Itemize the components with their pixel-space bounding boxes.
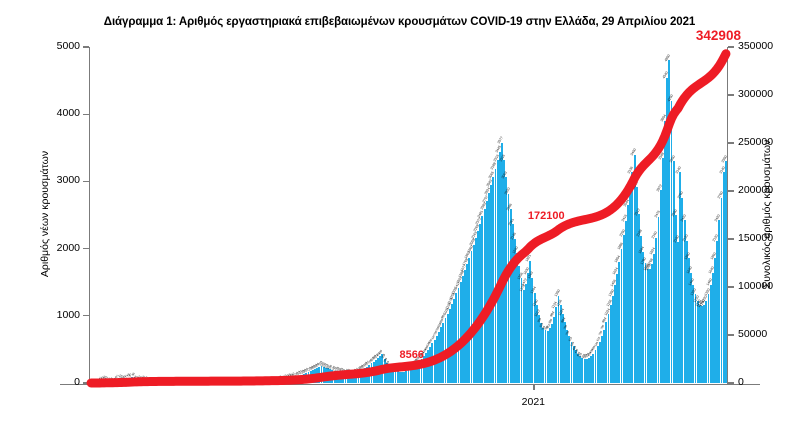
y-tick-left: [83, 114, 89, 115]
y-axis-right-title: Συνολικός αριθμός κρουσμάτων: [761, 64, 773, 364]
callout-cumulative-end: 342908: [696, 28, 741, 43]
y-tick-label-right: 0: [738, 376, 744, 388]
y-tick-right: [728, 190, 734, 191]
y-tick-right: [728, 46, 734, 47]
y-tick-label-right: 350000: [738, 40, 773, 52]
y-tick-right: [728, 334, 734, 335]
y-tick-label-right: 300000: [738, 88, 773, 100]
y-tick-right: [728, 238, 734, 239]
y-tick-left: [83, 46, 89, 47]
y-tick-right: [728, 286, 734, 287]
callout-cumulative-mid1: 8566: [399, 349, 423, 361]
y-tick-label-right: 200000: [738, 184, 773, 196]
y-tick-left: [83, 248, 89, 249]
chart-root: Διάγραμμα 1: Αριθμός εργαστηριακά επιβεβ…: [0, 0, 799, 433]
callout-cumulative-mid2: 172100: [528, 210, 565, 222]
y-tick-label-right: 250000: [738, 136, 773, 148]
cumulative-line: [91, 54, 726, 383]
y-tick-right: [728, 142, 734, 143]
y-tick-left: [83, 181, 89, 182]
cumulative-line-layer: [90, 47, 727, 383]
y-tick-label-left: 0: [30, 376, 80, 388]
chart-title: Διάγραμμα 1: Αριθμός εργαστηριακά επιβεβ…: [0, 16, 799, 28]
y-tick-left: [83, 315, 89, 316]
y-tick-right: [728, 382, 734, 383]
x-tick: [533, 384, 534, 390]
y-tick-label-left: 2000: [30, 242, 80, 254]
x-tick-label: 2021: [522, 396, 545, 408]
y-tick-label-left: 4000: [30, 107, 80, 119]
y-tick-label-right: 100000: [738, 280, 773, 292]
y-tick-label-right: 150000: [738, 232, 773, 244]
y-tick-right: [728, 94, 734, 95]
y-tick-label-left: 5000: [30, 40, 80, 52]
y-tick-label-right: 50000: [738, 328, 767, 340]
y-tick-label-left: 1000: [30, 309, 80, 321]
y-tick-label-left: 3000: [30, 174, 80, 186]
plot-area: 3132453026244471635353717887955644523245…: [90, 47, 727, 383]
